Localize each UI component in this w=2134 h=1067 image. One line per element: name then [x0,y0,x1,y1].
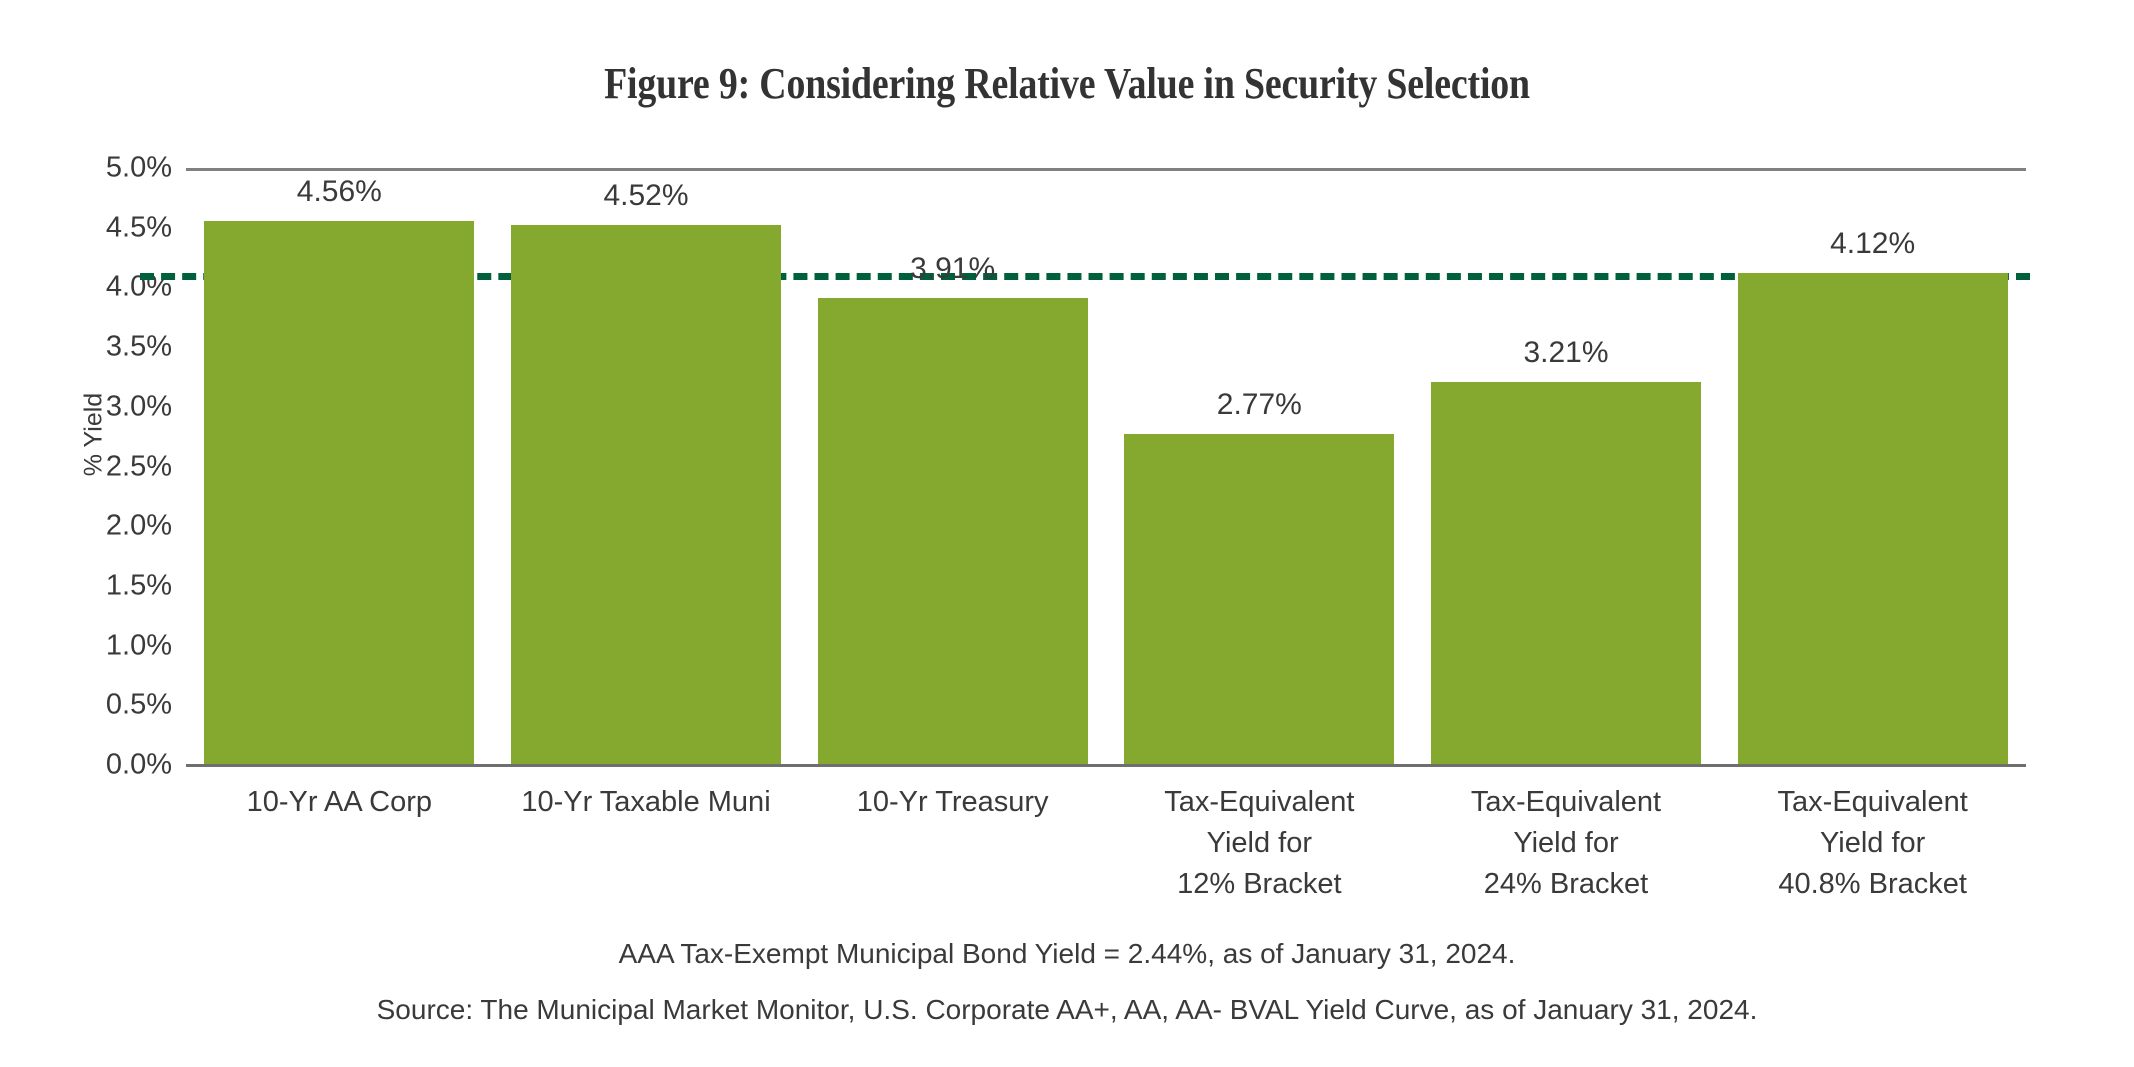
x-axis-category-line: Yield for [1106,823,1413,864]
footnote-note: AAA Tax-Exempt Municipal Bond Yield = 2.… [0,938,2134,970]
x-axis-category-line: 10-Yr Taxable Muni [493,782,800,823]
y-axis-tick-label: 2.5% [60,452,172,481]
bar[interactable]: 4.12% [1738,273,2008,765]
x-axis-category-label: 10-Yr Treasury [799,782,1106,823]
y-axis-tick-label: 3.0% [60,392,172,421]
y-axis-tick-labels: 5.0%4.5%4.0%3.5%3.0%2.5%2.0%1.5%1.0%0.5%… [60,0,172,1067]
bar-value-label: 4.12% [1830,227,1915,261]
x-axis-category-line: Tax-Equivalent [1413,782,1720,823]
gridline-top [186,168,2026,171]
bar-value-label: 3.91% [910,252,995,286]
x-axis-category-line: Tax-Equivalent [1106,782,1413,823]
y-axis-tick-label: 0.5% [60,691,172,720]
bar[interactable]: 3.91% [818,298,1088,765]
bar[interactable]: 3.21% [1431,382,1701,765]
y-axis-tick-label: 2.0% [60,512,172,541]
y-axis-tick-label: 1.5% [60,571,172,600]
footnote-source: Source: The Municipal Market Monitor, U.… [0,994,2134,1026]
bar[interactable]: 4.52% [511,225,781,765]
y-axis-tick-label: 5.0% [60,154,172,183]
x-axis-category-line: 12% Bracket [1106,864,1413,905]
bar-value-label: 4.52% [603,179,688,213]
x-axis-category-label: Tax-EquivalentYield for40.8% Bracket [1719,782,2026,905]
x-axis-category-line: Tax-Equivalent [1719,782,2026,823]
x-axis-category-line: Yield for [1413,823,1720,864]
y-axis-tick-label: 4.5% [60,213,172,242]
chart-figure: % Yield 5.0%4.5%4.0%3.5%3.0%2.5%2.0%1.5%… [0,0,2134,1067]
y-axis-tick-label: 3.5% [60,333,172,362]
plot-area: 4.56%4.52%3.91%2.77%3.21%4.12% [186,168,2026,765]
y-axis-tick-label: 0.0% [60,751,172,780]
bar[interactable]: 4.56% [204,221,474,765]
x-axis-category-line: 10-Yr Treasury [799,782,1106,823]
bar-value-label: 4.56% [297,175,382,209]
bar[interactable]: 2.77% [1124,434,1394,765]
x-axis-category-label: 10-Yr AA Corp [186,782,493,823]
x-axis-category-label: 10-Yr Taxable Muni [493,782,800,823]
x-axis-category-line: 10-Yr AA Corp [186,782,493,823]
bar-value-label: 3.21% [1523,336,1608,370]
x-axis-category-line: 40.8% Bracket [1719,864,2026,905]
x-axis-category-label: Tax-EquivalentYield for24% Bracket [1413,782,1720,905]
bar-value-label: 2.77% [1217,388,1302,422]
x-axis-line [186,764,2026,767]
x-axis-category-line: 24% Bracket [1413,864,1720,905]
x-axis-category-label: Tax-EquivalentYield for12% Bracket [1106,782,1413,905]
y-axis-tick-label: 1.0% [60,631,172,660]
x-axis-category-line: Yield for [1719,823,2026,864]
